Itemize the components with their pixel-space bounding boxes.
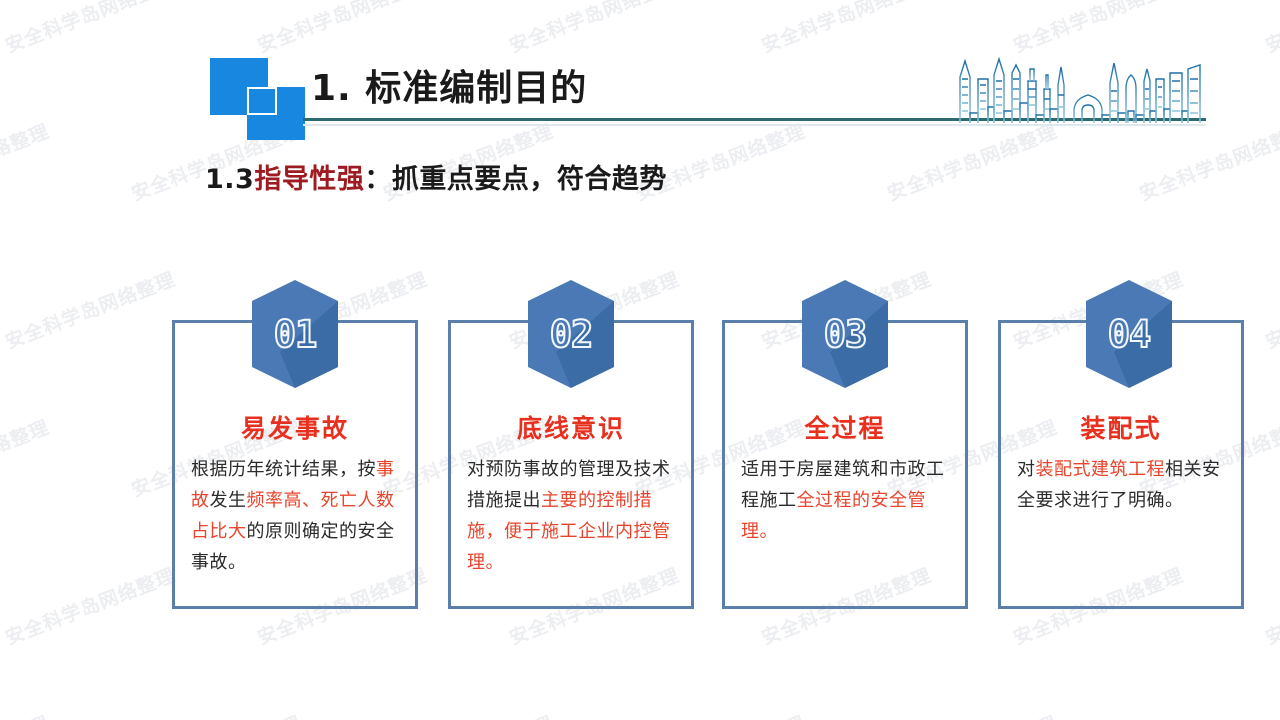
card-number: 04 xyxy=(1086,280,1172,388)
card-body: 对预防事故的管理及技术措施提出主要的控制措施，便于施工企业内控管理。 xyxy=(467,454,675,578)
hexagon-badge-icon: 04 xyxy=(1086,280,1172,388)
info-card-01[interactable]: 01 易发事故 根据历年统计结果，按事故发生频率高、死亡人数占比大的原则确定的安… xyxy=(172,320,418,609)
card-title: 全过程 xyxy=(725,409,965,445)
info-card-04[interactable]: 04 装配式 对装配式建筑工程相关安全要求进行了明确。 xyxy=(998,320,1244,609)
card-body: 根据历年统计结果，按事故发生频率高、死亡人数占比大的原则确定的安全事故。 xyxy=(191,454,399,578)
card-body: 适用于房屋建筑和市政工程施工全过程的安全管理。 xyxy=(741,454,949,547)
card-title: 底线意识 xyxy=(451,409,691,445)
hexagon-badge-icon: 03 xyxy=(802,280,888,388)
card-row: 01 易发事故 根据历年统计结果，按事故发生频率高、死亡人数占比大的原则确定的安… xyxy=(0,0,1280,720)
slide-canvas: 1. 标准编制目的 xyxy=(0,0,1280,720)
hexagon-badge-icon: 01 xyxy=(252,280,338,388)
card-body: 对装配式建筑工程相关安全要求进行了明确。 xyxy=(1017,454,1225,516)
info-card-02[interactable]: 02 底线意识 对预防事故的管理及技术措施提出主要的控制措施，便于施工企业内控管… xyxy=(448,320,694,609)
hexagon-badge-icon: 02 xyxy=(528,280,614,388)
card-number: 02 xyxy=(528,280,614,388)
card-title: 易发事故 xyxy=(175,409,415,445)
info-card-03[interactable]: 03 全过程 适用于房屋建筑和市政工程施工全过程的安全管理。 xyxy=(722,320,968,609)
card-number: 01 xyxy=(252,280,338,388)
card-title: 装配式 xyxy=(1001,409,1241,445)
card-number: 03 xyxy=(802,280,888,388)
